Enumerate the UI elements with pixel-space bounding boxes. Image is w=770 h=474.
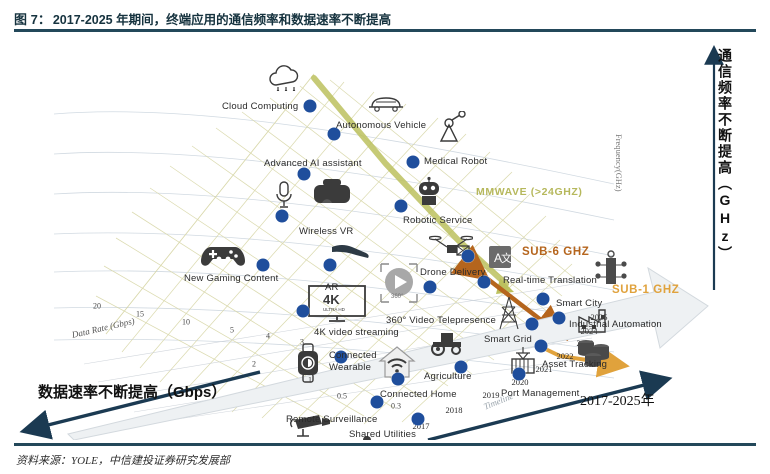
title-divider xyxy=(14,29,756,32)
x-tick: 0.3 xyxy=(391,402,401,411)
x-tick: 5 xyxy=(230,326,234,335)
node-marker xyxy=(412,413,425,426)
node-dot[interactable] xyxy=(462,250,475,263)
source-note: 资料来源：YOLE，中信建投证券研究发展部 xyxy=(16,452,230,468)
node-marker xyxy=(297,305,310,318)
vr-headset-icon xyxy=(309,177,355,213)
node-dot[interactable] xyxy=(412,413,425,426)
node-label-asset-tracking: Asset Tracking xyxy=(542,359,607,370)
node-dot[interactable] xyxy=(257,259,270,272)
node-label-agriculture: Agriculture xyxy=(424,371,472,382)
figure-tag: 图 7： xyxy=(14,9,51,28)
node-marker xyxy=(392,373,405,386)
node-dot[interactable] xyxy=(298,168,311,181)
bottom-right-caption: 2017-2025年 xyxy=(580,390,655,410)
node-marker xyxy=(535,340,548,353)
node-label-smart-grid: Smart Grid xyxy=(484,334,532,345)
node-dot[interactable] xyxy=(304,100,317,113)
node-label-ar: AR xyxy=(325,282,339,293)
node-label-medical-robot: Medical Robot xyxy=(424,156,487,167)
cloud-icon xyxy=(266,65,306,95)
x-tick: 0.5 xyxy=(337,392,347,401)
smartwatch-icon xyxy=(294,343,322,387)
node-marker xyxy=(395,200,408,213)
x-tick: 10 xyxy=(182,318,190,327)
node-dot[interactable] xyxy=(324,259,337,272)
node-label-robotic-service: Robotic Service xyxy=(403,215,473,226)
node-label-cloud-computing: Cloud Computing xyxy=(222,101,298,112)
band-label-sub6: SUB-6 GHZ xyxy=(522,246,589,258)
translate-icon: A文 xyxy=(488,245,512,273)
page-title: 2017-2025 年期间，终端应用的通信频率和数据速率不断提高 xyxy=(53,9,391,28)
pylon-icon xyxy=(496,295,522,335)
x-tick: 4 xyxy=(266,332,270,341)
node-dot[interactable] xyxy=(513,368,526,381)
node-label-4k-video-streaming: 4K video streaming xyxy=(314,327,399,338)
node-label-wireless-vr: Wireless VR xyxy=(299,226,353,237)
play-360-icon: 360° xyxy=(373,260,425,310)
node-marker xyxy=(462,250,475,263)
node-dot[interactable] xyxy=(276,210,289,223)
node-label-autonomous-vehicle: Autonomous Vehicle xyxy=(336,120,426,131)
robot-arm-icon xyxy=(435,111,469,149)
figure-page: 图 7： 2017-2025 年期间，终端应用的通信频率和数据速率不断提高 xyxy=(0,0,770,474)
node-dot[interactable] xyxy=(526,318,539,331)
node-dot[interactable] xyxy=(424,281,437,294)
node-marker xyxy=(513,368,526,381)
node-dot[interactable] xyxy=(297,305,310,318)
node-label-remote-surveillance: Remote Surveillance xyxy=(286,414,377,425)
footer-divider xyxy=(14,443,756,446)
node-dot[interactable] xyxy=(553,312,566,325)
svg-text:4K: 4K xyxy=(323,292,340,307)
node-marker xyxy=(553,312,566,325)
node-dot[interactable] xyxy=(537,293,550,306)
z-tick: 2018 xyxy=(446,405,463,415)
x-tick: 2 xyxy=(252,360,256,369)
car-icon xyxy=(365,91,407,117)
right-vertical-caption: 通信频率不断提高（GHz） xyxy=(712,48,738,262)
svg-text:ULTRA HD: ULTRA HD xyxy=(323,307,346,312)
node-label-shared-utilities: Shared Utilities xyxy=(349,429,416,440)
node-marker xyxy=(276,210,289,223)
node-marker xyxy=(526,318,539,331)
node-marker xyxy=(257,259,270,272)
node-marker xyxy=(298,168,311,181)
node-dot[interactable] xyxy=(395,200,408,213)
service-robot-icon xyxy=(414,176,444,212)
node-marker xyxy=(537,293,550,306)
node-label-new-gaming-content: New Gaming Content xyxy=(184,273,278,284)
y-axis-name: Frequency(GHz) xyxy=(614,134,624,192)
x-tick: 15 xyxy=(136,310,144,319)
chart-canvas: MMWAVE (>24GHZ) SUB-6 GHZ SUB-1 GHZ Data… xyxy=(14,34,756,440)
node-label-real-time-translation: Real-time Translation xyxy=(503,275,597,286)
node-marker xyxy=(407,156,420,169)
node-dot[interactable] xyxy=(535,340,548,353)
node-label-connected-home: Connected Home xyxy=(380,389,457,400)
node-marker xyxy=(304,100,317,113)
node-marker xyxy=(324,259,337,272)
svg-text:文: 文 xyxy=(501,251,512,265)
z-tick: 2019 xyxy=(483,390,500,400)
city-icon xyxy=(591,248,631,292)
node-label-connected-wearable: Connected Wearable xyxy=(329,350,391,374)
x-tick: 20 xyxy=(93,302,101,311)
node-label-smart-city: Smart City xyxy=(556,298,602,309)
band-label-mmwave: MMWAVE (>24GHZ) xyxy=(476,186,583,198)
tractor-icon xyxy=(425,328,469,360)
svg-text:360°: 360° xyxy=(391,294,404,300)
node-dot[interactable] xyxy=(392,373,405,386)
node-dot[interactable] xyxy=(407,156,420,169)
bottom-left-caption: 数据速率不断提高（Gbps） xyxy=(38,381,226,402)
gamepad-icon xyxy=(199,243,247,273)
node-marker xyxy=(424,281,437,294)
node-label-360-video-telepresence: 360° Video Telepresence xyxy=(386,315,496,326)
node-label-drone-delivery: Drone Delivery xyxy=(420,267,486,278)
node-label-industrial-automation: Industrial Automation xyxy=(569,319,662,330)
node-label-advanced-ai-assistant: Advanced AI assistant xyxy=(264,158,362,169)
node-label-port-management: Port Management xyxy=(501,388,580,399)
figure-title-row: 图 7： 2017-2025 年期间，终端应用的通信频率和数据速率不断提高 xyxy=(14,8,756,28)
